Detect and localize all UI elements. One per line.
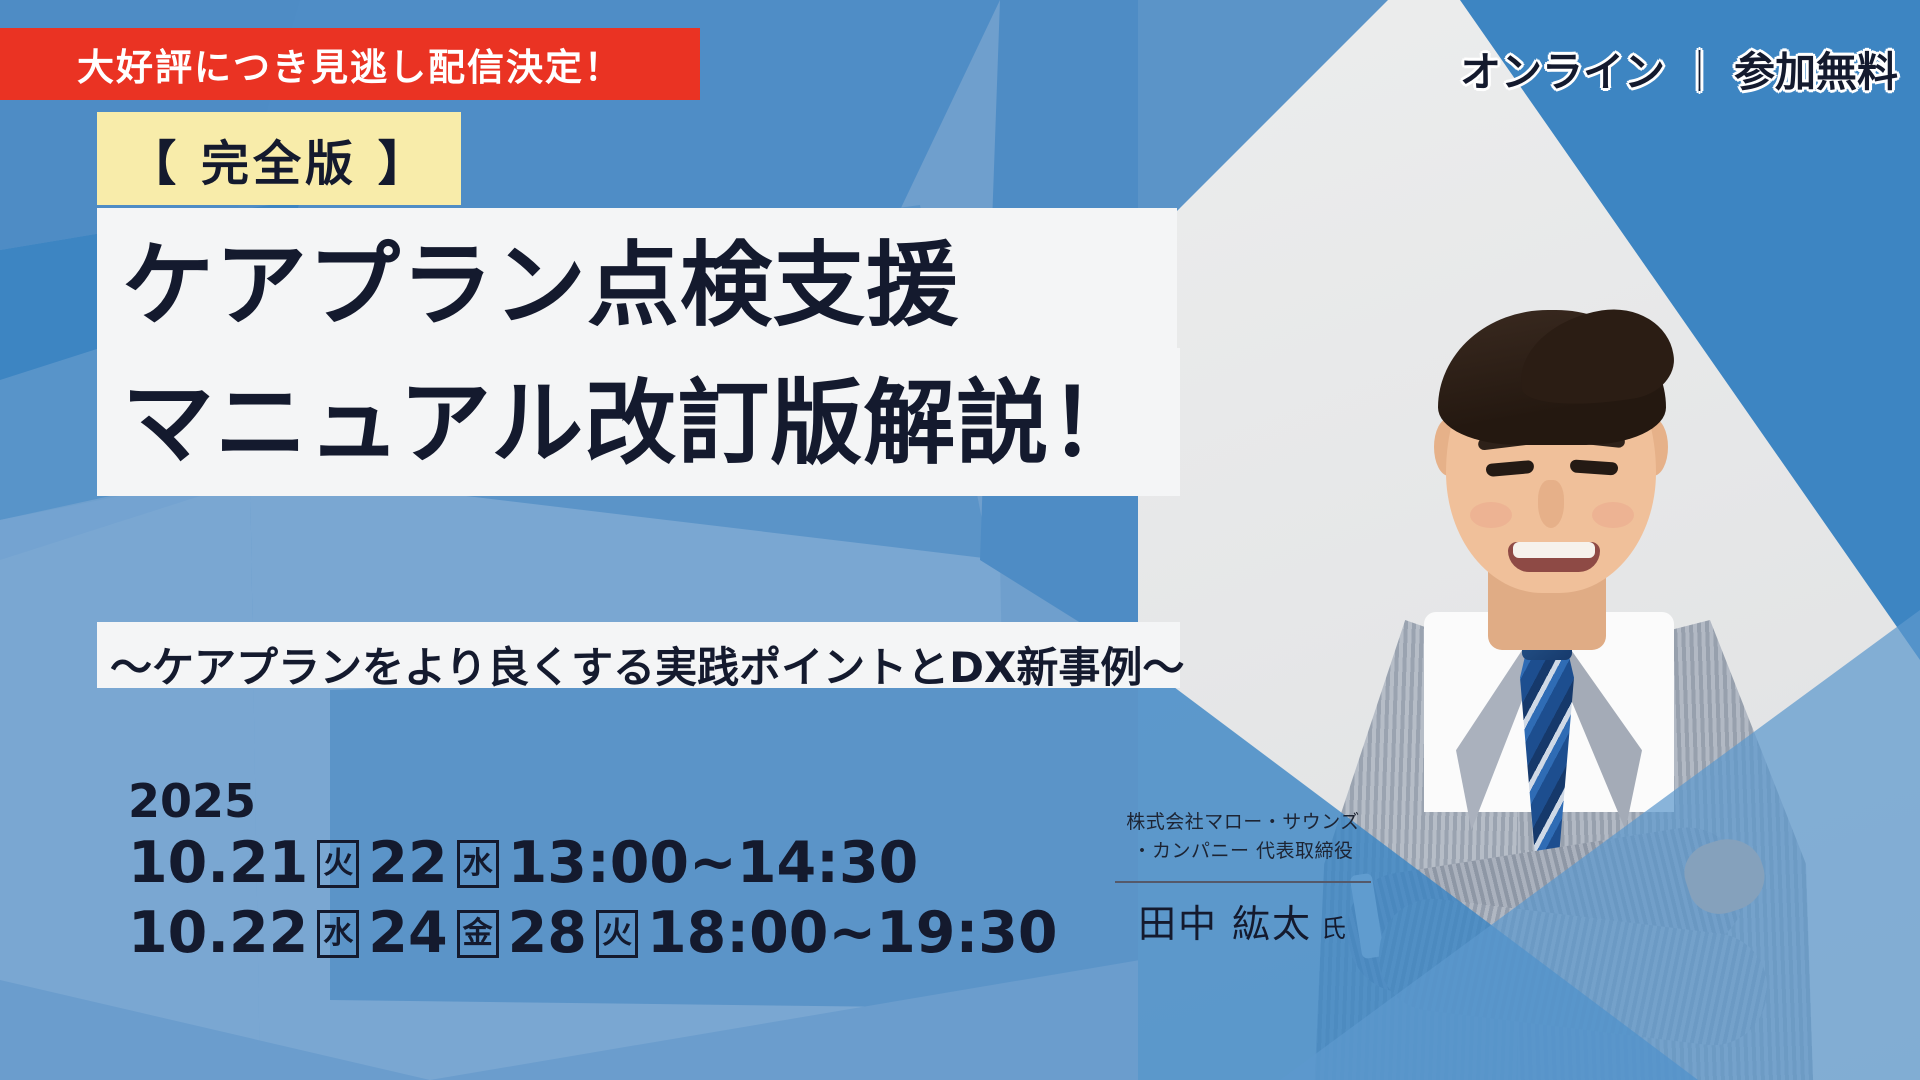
format-divider: ｜: [1679, 38, 1720, 98]
edition-badge-label: 【 完全版 】: [128, 124, 429, 194]
page-subtitle: 〜ケアプランをより良くする実践ポイントとDX新事例〜: [110, 634, 1184, 695]
session2-dow-1: 水: [317, 910, 359, 958]
page-title-line2: マニュアル改訂版解説！: [122, 378, 1142, 470]
speaker-name-suffix: 氏: [1321, 914, 1348, 943]
teeth: [1513, 542, 1595, 558]
speaker-info: 株式会社マロー・サウンズ ・カンパニー 代表取締役 田中 紘太氏: [1083, 808, 1403, 948]
cheek-left: [1470, 502, 1512, 528]
format-online-label: オンライン: [1460, 38, 1665, 98]
format-price-label: 参加無料: [1734, 38, 1898, 98]
session2-date: 10.22: [128, 904, 308, 964]
speaker-org-line1: 株式会社マロー・サウンズ: [1083, 808, 1403, 837]
mouth: [1508, 542, 1600, 572]
session2-dow-2: 金: [457, 910, 499, 958]
session-row-1: 10.21 火 22 水 13:00~14:30: [128, 834, 1058, 894]
speaker-name: 田中 紘太氏: [1083, 893, 1403, 948]
nose: [1538, 480, 1564, 528]
schedule-block: 2025 10.21 火 22 水 13:00~14:30 10.22 水 24…: [128, 778, 1058, 964]
speaker-divider: [1115, 881, 1371, 883]
session2-day-2: 24: [368, 904, 447, 964]
speaker-name-text: 田中 紘太: [1138, 902, 1312, 946]
session2-time: 18:00~19:30: [647, 904, 1058, 964]
announcement-ribbon: 大好評につき見逃し配信決定！: [0, 28, 700, 100]
cheek-right: [1592, 502, 1634, 528]
session2-day-3: 28: [508, 904, 587, 964]
announcement-text: 大好評につき見逃し配信決定！: [77, 37, 623, 91]
speaker-org-line2: ・カンパニー 代表取締役: [1083, 837, 1403, 866]
session1-day-2: 22: [368, 834, 447, 894]
session2-dow-3: 火: [596, 910, 638, 958]
session1-date: 10.21: [128, 834, 308, 894]
session1-dow-1: 火: [317, 840, 359, 888]
session-row-2: 10.22 水 24 金 28 火 18:00~19:30: [128, 904, 1058, 964]
event-format-info: オンライン ｜ 参加無料: [1460, 38, 1898, 98]
session1-time: 13:00~14:30: [508, 834, 919, 894]
session1-dow-2: 水: [457, 840, 499, 888]
edition-badge: 【 完全版 】: [97, 112, 461, 205]
webinar-banner: 大好評につき見逃し配信決定！ 【 完全版 】 オンライン ｜ 参加無料 ケアプラ…: [0, 0, 1920, 1080]
page-title-line1: ケアプラン点検支援: [122, 240, 959, 332]
schedule-year: 2025: [128, 778, 1058, 824]
